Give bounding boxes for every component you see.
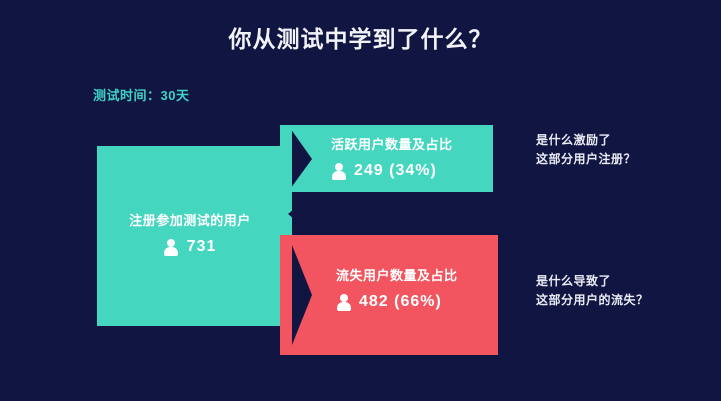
active-branch-label: 活跃用户数量及占比 249 (34%) [331, 135, 453, 181]
source-block-value: 731 [187, 237, 217, 257]
churn-branch-value-row: 482 (66%) [336, 292, 458, 312]
branch-divider-wedge [288, 192, 360, 235]
churn-connector-band [280, 235, 292, 355]
active-branch-value: 249 (34%) [354, 161, 437, 181]
person-icon [331, 163, 346, 180]
churn-annotation-line-1: 是什么导致了 [536, 272, 649, 291]
person-icon [336, 294, 351, 311]
source-block-value-row: 731 [117, 237, 263, 257]
flow-diagram-shapes [0, 0, 721, 401]
active-branch-value-row: 249 (34%) [331, 161, 453, 181]
active-annotation-line-2: 这部分用户注册？ [536, 150, 636, 169]
source-block-label: 注册参加测试的用户 731 [117, 211, 263, 257]
person-icon [164, 239, 179, 256]
churn-branch-annotation: 是什么导致了 这部分用户的流失？ [536, 272, 649, 310]
churn-annotation-line-2: 这部分用户的流失？ [536, 291, 649, 310]
churn-branch-label: 流失用户数量及占比 482 (66%) [336, 266, 458, 312]
infographic-canvas: 你从测试中学到了什么？ 测试时间：30天 注册参加测试的用户 731 活跃用户数… [0, 0, 721, 401]
active-annotation-line-1: 是什么激励了 [536, 131, 636, 150]
active-branch-title: 活跃用户数量及占比 [331, 135, 453, 155]
churn-branch-value: 482 (66%) [359, 292, 442, 312]
source-block-title: 注册参加测试的用户 [117, 211, 263, 231]
churn-branch-title: 流失用户数量及占比 [336, 266, 458, 286]
active-branch-annotation: 是什么激励了 这部分用户注册？ [536, 131, 636, 169]
